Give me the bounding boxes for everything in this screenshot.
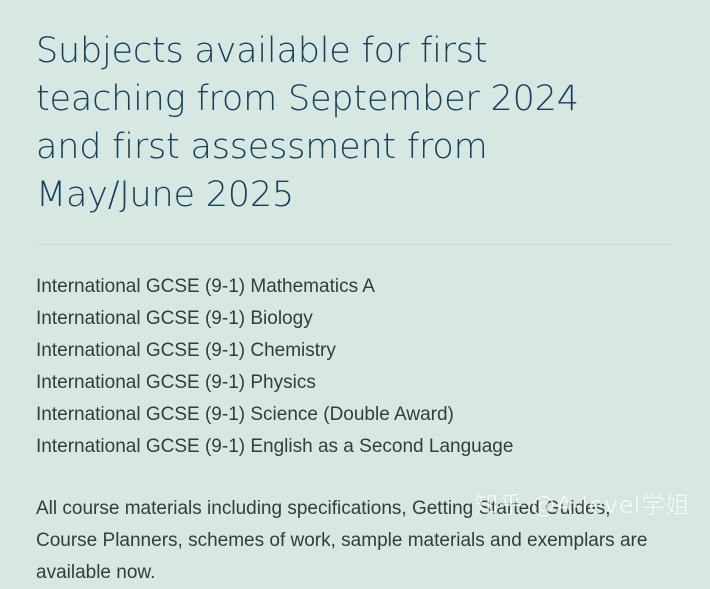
list-item: International GCSE (9-1) English as a Se… xyxy=(36,431,672,463)
availability-note: All course materials including specifica… xyxy=(36,463,670,589)
list-item: International GCSE (9-1) Chemistry xyxy=(36,335,672,367)
section-divider xyxy=(36,244,672,245)
watermark: 知乎 @A-level学姐 xyxy=(474,491,690,519)
content-card: Subjects available for first teaching fr… xyxy=(0,0,710,531)
list-item: International GCSE (9-1) Biology xyxy=(36,303,672,335)
list-item: International GCSE (9-1) Mathematics A xyxy=(36,271,672,303)
page-title: Subjects available for first teaching fr… xyxy=(36,0,636,219)
list-item: International GCSE (9-1) Physics xyxy=(36,367,672,399)
list-item: International GCSE (9-1) Science (Double… xyxy=(36,399,672,431)
subject-list: International GCSE (9-1) Mathematics A I… xyxy=(36,253,672,463)
